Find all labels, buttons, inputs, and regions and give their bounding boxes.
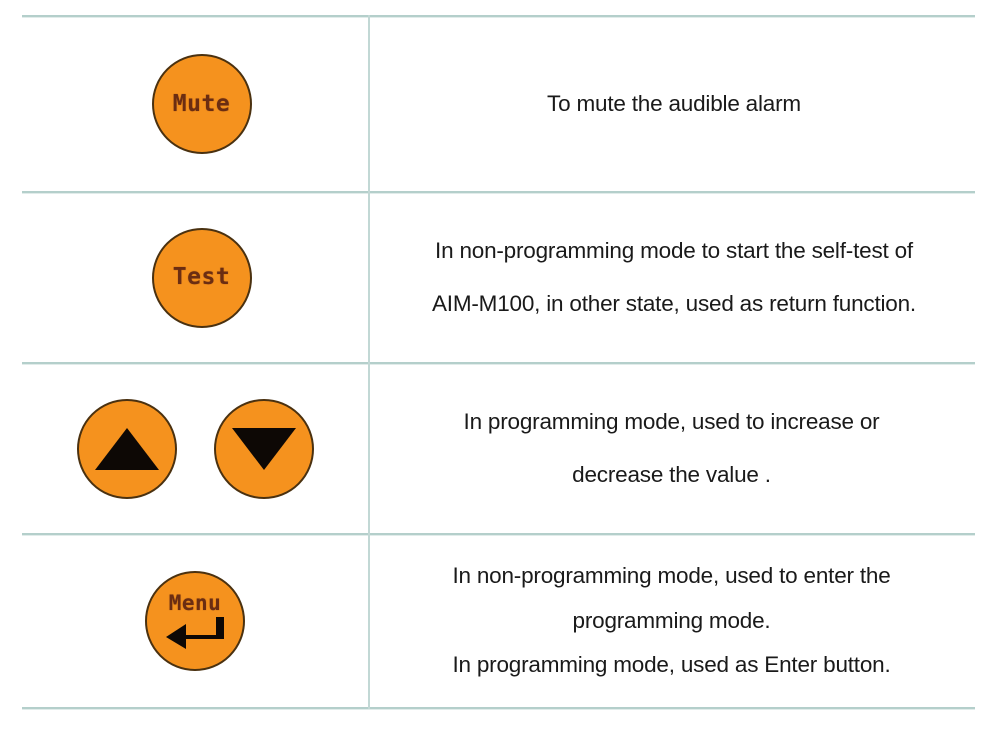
description-cell-arrows: In programming mode, used to increase or… <box>368 364 975 533</box>
arrow-down-icon <box>232 428 296 470</box>
description-line: In programming mode, used as Enter butto… <box>452 654 890 677</box>
arrow-down-button[interactable] <box>214 399 314 499</box>
description-line: programming mode. <box>573 610 771 633</box>
button-cell-test: Test <box>22 193 373 362</box>
function-table: Mute To mute the audible alarm Test In n… <box>22 15 975 709</box>
menu-button-label: Menu <box>169 593 222 614</box>
button-cell-mute: Mute <box>22 17 373 191</box>
mute-button[interactable]: Mute <box>152 54 252 154</box>
description-cell-mute: To mute the audible alarm <box>373 17 975 191</box>
description-line: In programming mode, used to increase or <box>464 411 880 434</box>
button-cell-arrows <box>22 364 368 533</box>
description-line: AIM-M100, in other state, used as return… <box>432 293 916 316</box>
table-row: Test In non-programming mode to start th… <box>22 193 975 362</box>
test-button[interactable]: Test <box>152 228 252 328</box>
arrow-up-icon <box>95 428 159 470</box>
description-line: In non-programming mode to start the sel… <box>435 240 913 263</box>
table-rule-bottom <box>22 707 975 709</box>
enter-arrow-icon <box>164 616 226 650</box>
description-cell-menu: In non-programming mode, used to enter t… <box>368 535 975 707</box>
description-cell-test: In non-programming mode to start the sel… <box>373 193 975 362</box>
table-row: Mute To mute the audible alarm <box>22 17 975 191</box>
button-cell-menu: Menu <box>22 535 368 707</box>
test-button-label: Test <box>173 266 230 289</box>
menu-button[interactable]: Menu <box>145 571 245 671</box>
mute-button-label: Mute <box>173 93 230 116</box>
button-function-table-page: Mute To mute the audible alarm Test In n… <box>0 0 1000 739</box>
description-line: To mute the audible alarm <box>547 93 801 116</box>
table-row: Menu In non-programming mode, used to en… <box>22 535 975 707</box>
table-row: In programming mode, used to increase or… <box>22 364 975 533</box>
arrow-up-button[interactable] <box>77 399 177 499</box>
description-line: In non-programming mode, used to enter t… <box>452 565 890 588</box>
description-line: decrease the value . <box>572 464 771 487</box>
